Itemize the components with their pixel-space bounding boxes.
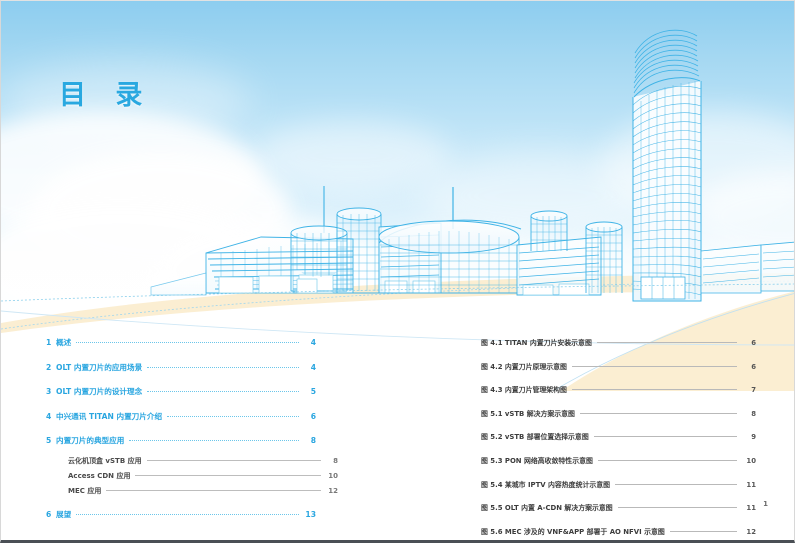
figure-entry-label: 图 5.6 MEC 涉及的 VNF&APP 部署于 AO NFVI 示意图 bbox=[481, 526, 665, 536]
toc-entry-label: 概述 bbox=[56, 337, 71, 348]
figure-entry[interactable]: 图 4.3 内置刀片管理架构图 7 bbox=[481, 384, 756, 394]
leader-line bbox=[106, 490, 321, 491]
leader-line bbox=[594, 436, 737, 437]
leader-line bbox=[580, 413, 737, 414]
toc-entry-label: 中兴通讯 TITAN 内置刀片介绍 bbox=[56, 411, 162, 422]
figure-entry-label: 图 4.1 TITAN 内置刀片安装示意图 bbox=[481, 337, 592, 347]
toc-subentry-label: MEC 应用 bbox=[68, 486, 101, 496]
figure-entry-page: 10 bbox=[742, 457, 756, 465]
leader-dots bbox=[147, 391, 299, 392]
toc-entry[interactable]: 2 OLT 内置刀片的应用场景 4 bbox=[46, 362, 316, 373]
toc-subentry-label: 云化机顶盒 vSTB 应用 bbox=[68, 456, 142, 466]
figure-entry[interactable]: 图 5.3 PON 网络高收敛特性示意图 10 bbox=[481, 455, 756, 465]
figure-entry-label: 图 4.3 内置刀片管理架构图 bbox=[481, 384, 567, 394]
figure-entry-page: 6 bbox=[742, 339, 756, 347]
toc-chapter-list: 1 概述 4 2 OLT 内置刀片的应用场景 4 3 OLT 内置刀片的设计理念… bbox=[46, 337, 316, 534]
figure-entry-label: 图 5.3 PON 网络高收敛特性示意图 bbox=[481, 455, 593, 465]
toc-entry[interactable]: 4 中兴通讯 TITAN 内置刀片介绍 6 bbox=[46, 411, 316, 422]
figure-entry[interactable]: 图 5.4 某城市 IPTV 内容热度统计示意图 11 bbox=[481, 479, 756, 489]
toc-entry-number: 5 bbox=[46, 436, 56, 445]
figure-entry[interactable]: 图 5.2 vSTB 部署位置选择示意图 9 bbox=[481, 431, 756, 441]
page-title: 目 录 bbox=[59, 73, 152, 112]
toc-subentry[interactable]: Access CDN 应用 10 bbox=[46, 471, 338, 481]
page-number: 1 bbox=[763, 500, 768, 508]
toc-subentry[interactable]: MEC 应用 12 bbox=[46, 486, 338, 496]
leader-line bbox=[135, 475, 321, 476]
toc-entry-label: 内置刀片的典型应用 bbox=[56, 435, 124, 446]
leader-line bbox=[615, 484, 737, 485]
leader-line bbox=[147, 460, 321, 461]
toc-entry[interactable]: 5 内置刀片的典型应用 8 bbox=[46, 435, 316, 446]
toc-entry-number: 4 bbox=[46, 412, 56, 421]
leader-line bbox=[572, 389, 737, 390]
leader-dots bbox=[76, 342, 299, 343]
figure-entry-page: 9 bbox=[742, 433, 756, 441]
toc-entry-page: 6 bbox=[304, 412, 316, 421]
toc-figure-list: 图 4.1 TITAN 内置刀片安装示意图 6 图 4.2 内置刀片原理示意图 … bbox=[481, 337, 756, 543]
toc-entry-label: OLT 内置刀片的应用场景 bbox=[56, 362, 142, 373]
leader-dots bbox=[167, 416, 299, 417]
toc-entry[interactable]: 6 展望 13 bbox=[46, 509, 316, 520]
figure-entry-page: 12 bbox=[742, 528, 756, 536]
leader-line bbox=[598, 460, 737, 461]
toc-entry-page: 13 bbox=[304, 510, 316, 519]
toc-entry-page: 4 bbox=[304, 338, 316, 347]
figure-entry-page: 11 bbox=[742, 481, 756, 489]
leader-line bbox=[670, 531, 737, 532]
toc-subentry-label: Access CDN 应用 bbox=[68, 471, 130, 481]
figure-entry-label: 图 4.2 内置刀片原理示意图 bbox=[481, 361, 567, 371]
toc-entry-label: OLT 内置刀片的设计理念 bbox=[56, 386, 142, 397]
leader-dots bbox=[76, 514, 299, 515]
leader-line bbox=[572, 366, 737, 367]
leader-line bbox=[618, 507, 737, 508]
toc-page: 目 录 1 概述 4 2 OLT 内置刀片的应用场景 4 3 OLT 内置刀片的… bbox=[0, 0, 795, 543]
toc-entry-page: 8 bbox=[304, 436, 316, 445]
figure-entry[interactable]: 图 5.1 vSTB 解决方案示意图 8 bbox=[481, 408, 756, 418]
toc-subentry[interactable]: 云化机顶盒 vSTB 应用 8 bbox=[46, 456, 338, 466]
toc-entry-label: 展望 bbox=[56, 509, 71, 520]
figure-entry-page: 6 bbox=[742, 363, 756, 371]
figure-entry[interactable]: 图 5.6 MEC 涉及的 VNF&APP 部署于 AO NFVI 示意图 12 bbox=[481, 526, 756, 536]
leader-dots bbox=[147, 367, 299, 368]
cityscape-line-art bbox=[1, 1, 795, 331]
leader-line bbox=[597, 342, 737, 343]
figure-entry-label: 图 5.5 OLT 内置 A-CDN 解决方案示意图 bbox=[481, 502, 613, 512]
toc-entry-number: 2 bbox=[46, 363, 56, 372]
toc-entry-number: 3 bbox=[46, 387, 56, 396]
toc-entry[interactable]: 1 概述 4 bbox=[46, 337, 316, 348]
figure-entry-label: 图 5.1 vSTB 解决方案示意图 bbox=[481, 408, 575, 418]
figure-entry[interactable]: 图 4.2 内置刀片原理示意图 6 bbox=[481, 361, 756, 371]
toc-subentry-page: 8 bbox=[326, 457, 338, 465]
leader-dots bbox=[129, 440, 299, 441]
toc-subentry-page: 10 bbox=[326, 472, 338, 480]
figure-entry-label: 图 5.2 vSTB 部署位置选择示意图 bbox=[481, 431, 589, 441]
figure-entry[interactable]: 图 5.5 OLT 内置 A-CDN 解决方案示意图 11 bbox=[481, 502, 756, 512]
toc-entry-number: 1 bbox=[46, 338, 56, 347]
figure-entry-page: 7 bbox=[742, 386, 756, 394]
figure-entry-label: 图 5.4 某城市 IPTV 内容热度统计示意图 bbox=[481, 479, 610, 489]
toc-entry[interactable]: 3 OLT 内置刀片的设计理念 5 bbox=[46, 386, 316, 397]
toc-entry-page: 4 bbox=[304, 363, 316, 372]
figure-entry[interactable]: 图 4.1 TITAN 内置刀片安装示意图 6 bbox=[481, 337, 756, 347]
figure-entry-page: 11 bbox=[742, 504, 756, 512]
toc-entry-page: 5 bbox=[304, 387, 316, 396]
figure-entry-page: 8 bbox=[742, 410, 756, 418]
toc-subentry-page: 12 bbox=[326, 487, 338, 495]
toc-entry-number: 6 bbox=[46, 510, 56, 519]
